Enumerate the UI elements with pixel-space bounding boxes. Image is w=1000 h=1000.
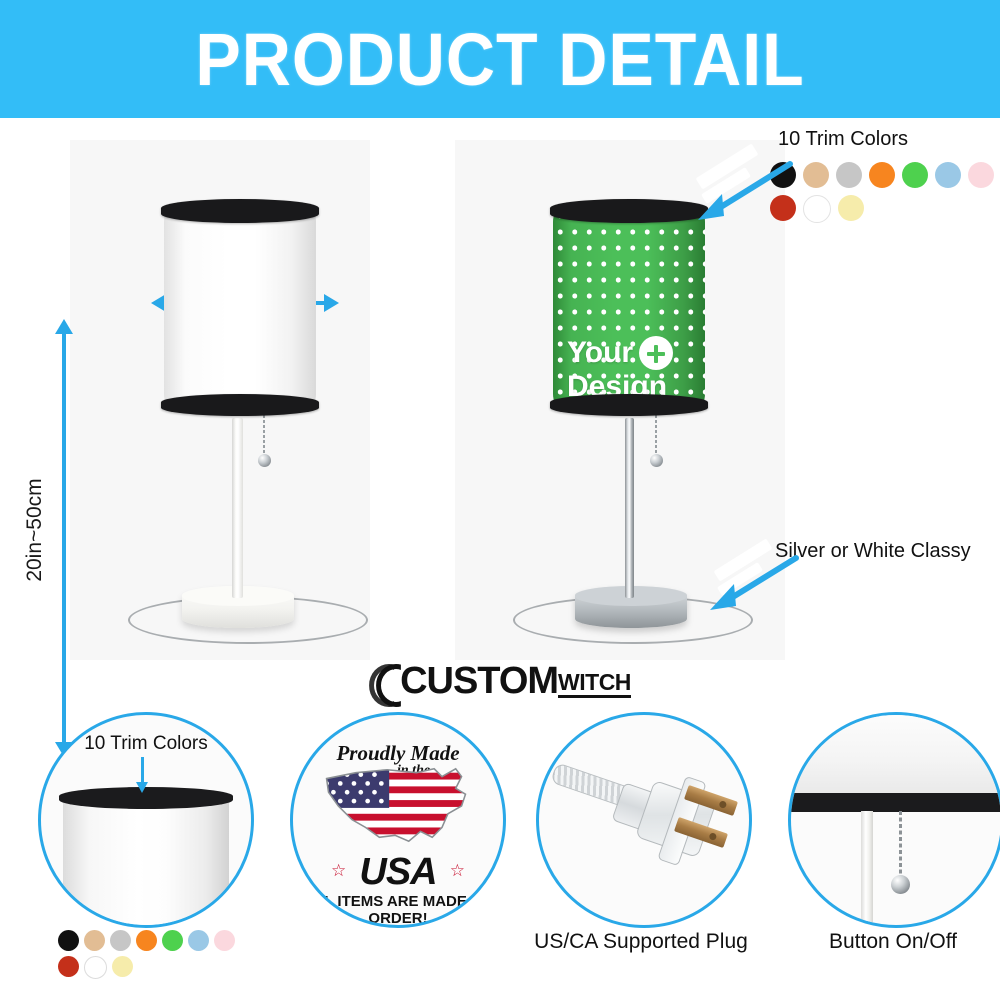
pull-chain-ball-white[interactable] bbox=[258, 454, 271, 467]
feature-swatch-tan[interactable] bbox=[84, 930, 105, 951]
lamp-shade-white bbox=[164, 208, 316, 408]
feature-shade-trim bbox=[788, 793, 1000, 812]
feature-button: Button On/Off bbox=[788, 712, 1000, 1000]
feature-shade-surface bbox=[788, 712, 1000, 795]
feature-trim-arrow-icon bbox=[141, 757, 144, 783]
brand-name-primary: CUSTOM bbox=[400, 662, 558, 700]
trim-colors-title: 10 Trim Colors bbox=[778, 128, 908, 151]
swatch-orange[interactable] bbox=[869, 162, 895, 188]
main-stage: 7in~18cm 20in~50cm bbox=[0, 118, 1000, 658]
feature-trim-colors-title: 10 Trim Colors bbox=[41, 733, 251, 755]
swatch-light-blue[interactable] bbox=[935, 162, 961, 188]
feature-swatch-green[interactable] bbox=[162, 930, 183, 951]
shade-trim-bottom-white bbox=[161, 394, 319, 416]
feature-swatch-light-blue[interactable] bbox=[188, 930, 209, 951]
shade-trim-top-white bbox=[161, 199, 319, 223]
pull-chain-ball-green[interactable] bbox=[650, 454, 663, 467]
feature-swatch-row bbox=[58, 930, 254, 979]
double-c-icon bbox=[369, 662, 403, 700]
base-finish-callout-arrow bbox=[700, 550, 810, 620]
feature-made-in-usa: Proudly Made in the bbox=[290, 712, 506, 1000]
feature-row: 10 Trim Colors Proudly Made bbox=[0, 712, 1000, 1000]
usa-badge: Proudly Made in the bbox=[293, 715, 503, 925]
pull-chain-green[interactable] bbox=[655, 410, 657, 458]
brand-name-secondary: WITCH bbox=[558, 670, 631, 698]
lamp-shade-green: Your Design bbox=[553, 208, 705, 408]
header-banner: PRODUCT DETAIL bbox=[0, 0, 1000, 118]
shade-surface-white bbox=[164, 208, 316, 408]
usa-star-right: ☆ bbox=[450, 861, 465, 881]
feature-pull-chain[interactable] bbox=[899, 811, 902, 879]
feature-swatch-orange[interactable] bbox=[136, 930, 157, 951]
swatch-yellow[interactable] bbox=[838, 195, 864, 221]
swatch-pink[interactable] bbox=[968, 162, 994, 188]
swatch-green[interactable] bbox=[902, 162, 928, 188]
feature-button-label: Button On/Off bbox=[778, 930, 1000, 954]
height-dimension-label: 20in~50cm bbox=[23, 435, 47, 625]
your-design-line-1: Your bbox=[567, 336, 633, 370]
brand-logo-inner: CUSTOM WITCH bbox=[369, 662, 631, 700]
usa-line-3: USA bbox=[293, 851, 503, 894]
lamp-pole-white bbox=[232, 418, 243, 598]
feature-button-circle bbox=[788, 712, 1000, 928]
trim-colors-swatch-row bbox=[770, 162, 1000, 223]
plus-icon bbox=[639, 336, 673, 370]
feature-usa-circle: Proudly Made in the bbox=[290, 712, 506, 928]
feature-swatch-pink[interactable] bbox=[214, 930, 235, 951]
feature-shade-white-icon bbox=[63, 795, 229, 925]
shade-trim-top-green bbox=[550, 199, 708, 223]
brand-logo: CUSTOM WITCH bbox=[0, 662, 1000, 705]
feature-trim-colors-circle: 10 Trim Colors bbox=[38, 712, 254, 928]
feature-swatch-yellow[interactable] bbox=[112, 956, 133, 977]
product-detail-page: PRODUCT DETAIL 7in~18cm 20in~50cm bbox=[0, 0, 1000, 1000]
usa-line-4: ALL ITEMS ARE MADE TO ORDER! bbox=[293, 893, 503, 927]
feature-plug: US/CA Supported Plug bbox=[536, 712, 776, 1000]
feature-plug-circle bbox=[536, 712, 752, 928]
feature-trim-colors: 10 Trim Colors bbox=[38, 712, 254, 1000]
pull-chain-white[interactable] bbox=[263, 410, 265, 458]
feature-swatch-black[interactable] bbox=[58, 930, 79, 951]
trim-colors-callout-arrow bbox=[690, 158, 800, 228]
usa-map-flag-icon bbox=[317, 759, 477, 849]
swatch-white[interactable] bbox=[803, 195, 831, 223]
your-design-row-1: Your bbox=[567, 336, 697, 370]
feature-swatch-red[interactable] bbox=[58, 956, 79, 977]
swatch-tan[interactable] bbox=[803, 162, 829, 188]
swatch-gray[interactable] bbox=[836, 162, 862, 188]
lamp-pole-silver bbox=[625, 418, 634, 598]
feature-swatch-white[interactable] bbox=[84, 956, 107, 979]
shade-trim-bottom-green bbox=[550, 394, 708, 416]
shade-surface-green: Your Design bbox=[553, 208, 705, 408]
feature-swatch-gray[interactable] bbox=[110, 930, 131, 951]
page-title: PRODUCT DETAIL bbox=[40, 20, 960, 100]
feature-lamp-pole bbox=[861, 811, 873, 928]
feature-plug-label: US/CA Supported Plug bbox=[506, 930, 776, 954]
feature-pull-chain-ball[interactable] bbox=[891, 875, 910, 894]
